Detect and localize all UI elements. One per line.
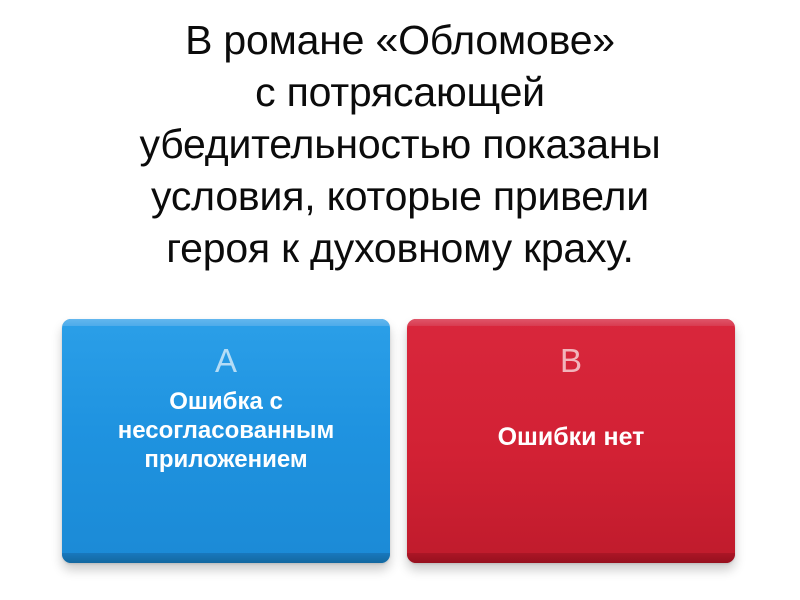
answer-label-a: Ошибка с несогласованным приложением <box>76 387 376 474</box>
quiz-slide: В романе «Обломове» с потрясающей убедит… <box>0 0 800 600</box>
card-highlight-strip <box>62 319 390 326</box>
card-highlight-strip <box>407 319 735 326</box>
answer-label-b: Ошибки нет <box>421 423 721 452</box>
answer-card-b[interactable]: B Ошибки нет <box>407 319 735 563</box>
question-text: В романе «Обломове» с потрясающей убедит… <box>40 0 760 274</box>
card-shadow-strip <box>407 553 735 563</box>
answer-card-a[interactable]: A Ошибка с несогласованным приложением <box>62 319 390 563</box>
answer-letter-a: A <box>215 343 237 379</box>
card-shadow-strip <box>62 553 390 563</box>
answer-letter-b: B <box>560 343 582 379</box>
answer-options-row: A Ошибка с несогласованным приложением B… <box>62 319 735 563</box>
